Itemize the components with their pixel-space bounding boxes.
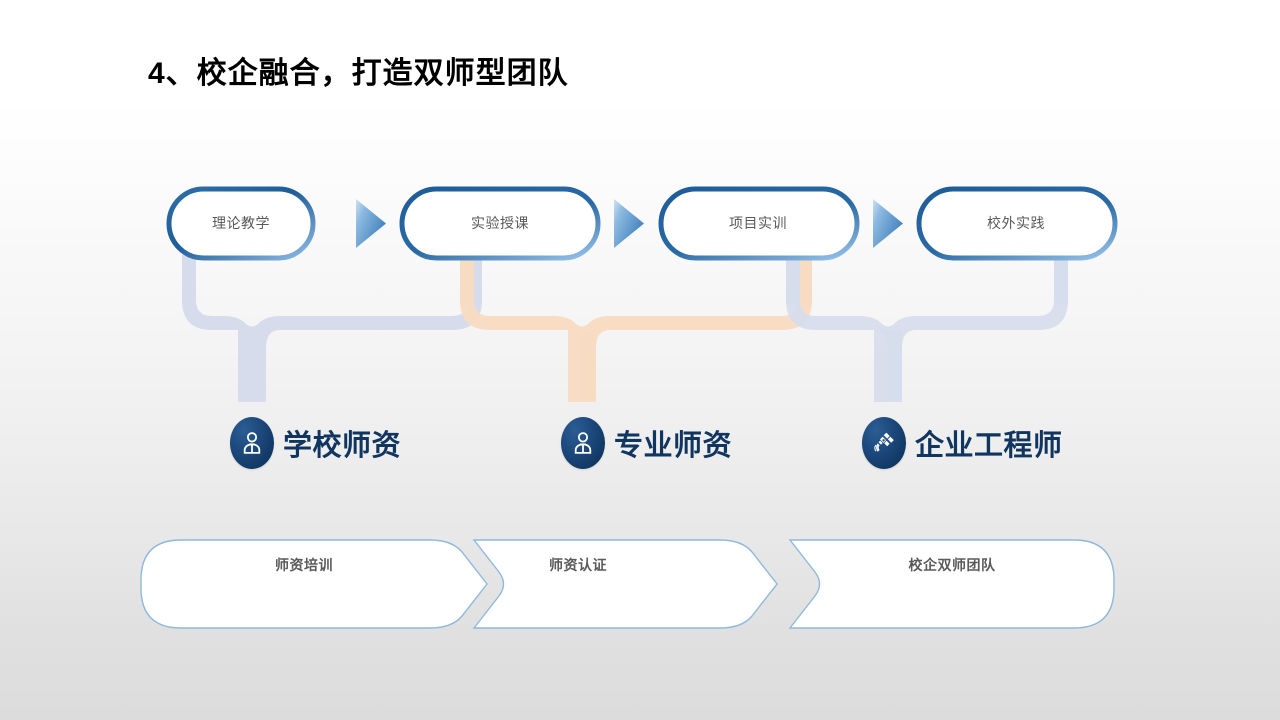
stage-label-4: 校外实践	[987, 213, 1045, 233]
role-enterprise-engineer[interactable]: 企业工程师	[862, 417, 1063, 469]
role-label-professional-faculty: 专业师资	[614, 422, 732, 464]
role-label-school-faculty: 学校师资	[283, 422, 401, 464]
stage-label-2: 实验授课	[471, 213, 529, 233]
role-school-faculty[interactable]: 学校师资	[230, 417, 401, 469]
ribbon-connectors	[0, 0, 1280, 720]
stage-label-3: 项目实训	[729, 213, 787, 233]
slide-root: 4、校企融合，打造双师型团队	[0, 0, 1280, 720]
satellite-icon	[862, 417, 906, 469]
page-title: 4、校企融合，打造双师型团队	[148, 48, 569, 92]
teacher-person-icon	[230, 417, 274, 469]
outcome-label-1: 师资培训	[275, 555, 333, 575]
stage-label-1: 理论教学	[212, 213, 270, 233]
teacher-person-icon	[561, 417, 605, 469]
outcome-label-3: 校企双师团队	[909, 555, 996, 575]
stage-pills-layer	[0, 0, 1280, 720]
outcome-chevrons-layer	[0, 0, 1280, 720]
outcome-label-2: 师资认证	[549, 555, 607, 575]
role-label-enterprise-engineer: 企业工程师	[915, 422, 1063, 464]
role-professional-faculty[interactable]: 专业师资	[561, 417, 732, 469]
